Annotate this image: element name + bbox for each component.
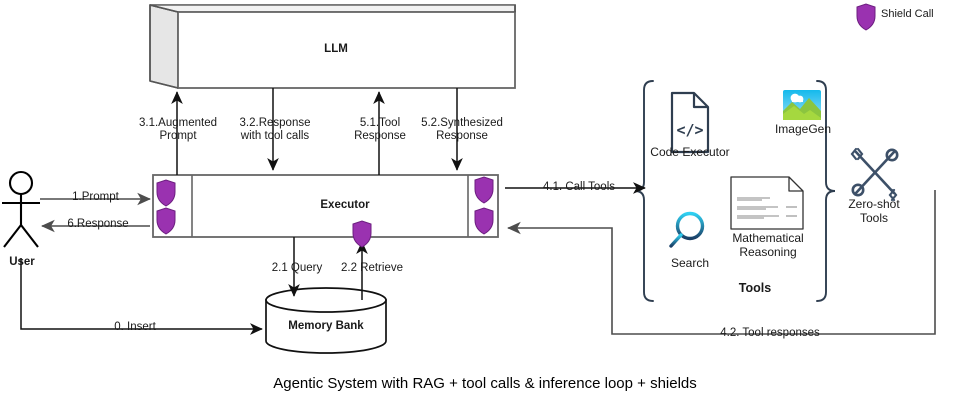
memory-bank-label: Memory Bank — [276, 320, 376, 333]
edge-label-response-tool-calls: 3.2.Response with tool calls — [226, 117, 324, 143]
executor-label: Executor — [290, 199, 400, 212]
image-picture-icon[interactable] — [783, 90, 821, 120]
tool-label-code-executor: Code Executor — [645, 145, 735, 159]
edge-label-query: 2.1 Query — [258, 262, 336, 275]
shield-icon — [353, 221, 371, 247]
edge-label-retrieve: 2.2 Retrieve — [327, 262, 417, 275]
tools-group-label: Tools — [710, 282, 800, 295]
user-node[interactable] — [2, 172, 40, 247]
edge-label-tool-responses: 4.2. Tool responses — [660, 327, 880, 340]
formula-document-icon[interactable] — [731, 177, 803, 229]
magnifier-icon[interactable] — [671, 214, 703, 247]
edge-label-augmented-prompt: 3.1.Augmented Prompt — [133, 117, 223, 143]
edge-label-tool-response: 5.1.Tool Response — [341, 117, 419, 143]
svg-text:</>: </> — [676, 121, 703, 139]
diagram-canvas: </> — [0, 0, 970, 411]
tool-label-imagegen: ImageGen — [767, 122, 839, 136]
user-label: User — [0, 256, 44, 269]
edge-label-response: 6.Response — [43, 218, 153, 231]
diagram-graphics: </> — [0, 0, 970, 411]
crossed-wrenches-icon[interactable] — [852, 149, 897, 200]
llm-label: LLM — [301, 43, 371, 56]
edge-label-call-tools: 4.1. Call Tools — [525, 181, 633, 194]
code-document-icon[interactable]: </> — [672, 93, 708, 152]
legend-shield-label: Shield Call — [881, 8, 961, 21]
shield-icon — [857, 4, 875, 30]
tool-label-mathematical-reasoning: Mathematical Reasoning — [722, 231, 814, 259]
tool-label-search: Search — [656, 256, 724, 270]
edge-label-synthesized-response: 5.2.Synthesized Response — [413, 117, 511, 143]
tool-label-zero-shot-tools: Zero-shot Tools — [840, 197, 908, 225]
edge-label-insert: 0. Insert — [75, 321, 195, 334]
diagram-caption: Agentic System with RAG + tool calls & i… — [185, 375, 785, 392]
edge-label-prompt: 1.Prompt — [43, 191, 148, 204]
edge-insert — [21, 258, 262, 329]
